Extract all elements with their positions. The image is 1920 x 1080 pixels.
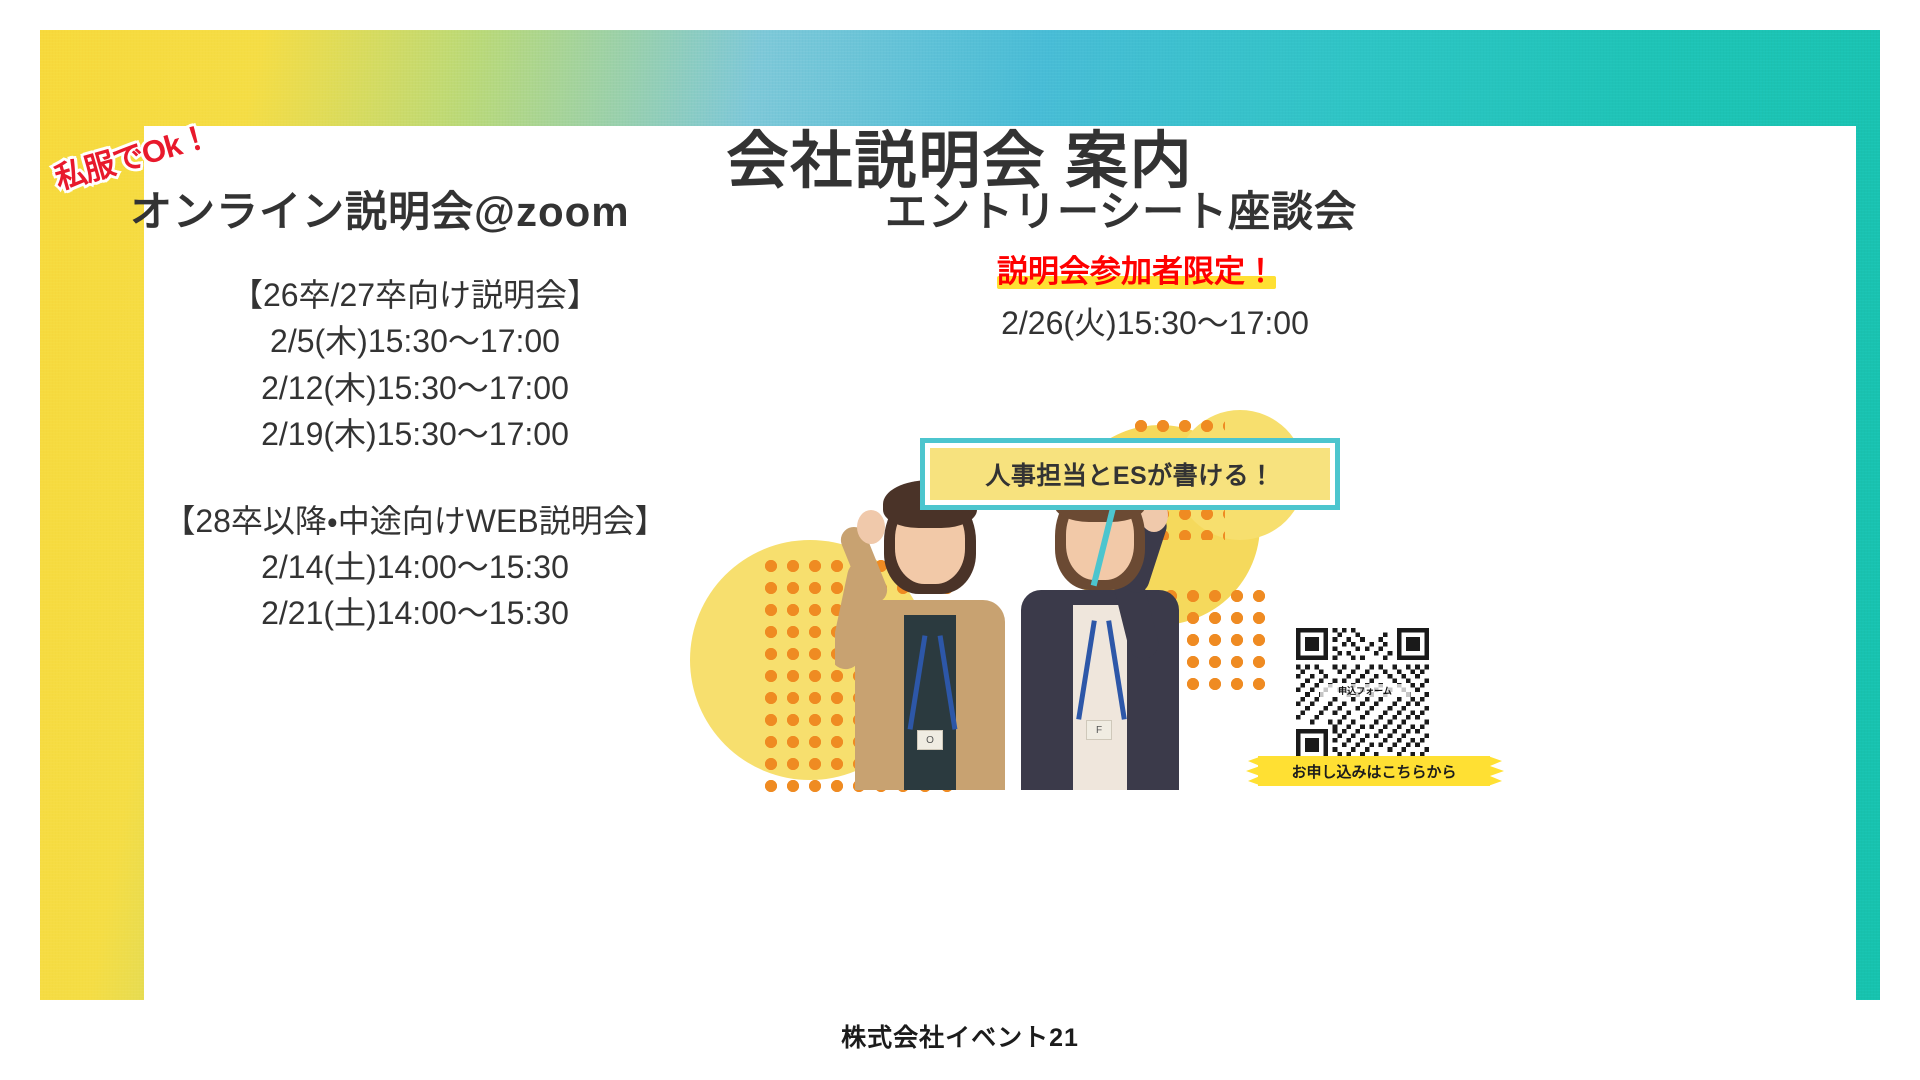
poster-root: 会社説明会 案内 私服でOk！ オンライン説明会@zoom エントリーシート座談… [0, 0, 1920, 1080]
right-schedule-session: 2/26(火)15:30〜17:00 [930, 298, 1380, 344]
id-badge: O [917, 730, 943, 750]
right-column-heading: エントリーシート座談会 [885, 178, 1357, 239]
apply-here-banner[interactable]: お申し込みはこちらから [1258, 756, 1490, 786]
schedule-spacer [125, 458, 705, 498]
staff-photo: O F [835, 465, 1230, 790]
left-column-heading: オンライン説明会@zoom [130, 178, 630, 239]
banner-zigzag-right [1488, 756, 1510, 786]
person-right: F [1000, 470, 1200, 790]
schedule-session: 2/19(木)15:30〜17:00 [125, 411, 705, 457]
speech-bubble: 人事担当とESが書ける！ [920, 438, 1340, 510]
apply-here-label: お申し込みはこちらから [1291, 761, 1456, 782]
schedule-session: 2/21(土)14:00〜15:30 [125, 590, 705, 636]
participants-only-badge: 説明会参加者限定！ [997, 246, 1276, 291]
schedule-session: 2/14(土)14:00〜15:30 [125, 544, 705, 590]
speech-bubble-text: 人事担当とESが書ける！ [985, 456, 1274, 492]
schedule-group-label: 【28卒以降・中途向けWEB説明会】 [125, 498, 705, 544]
schedule-group-label: 【26卒/27卒向け説明会】 [125, 272, 705, 318]
qr-inner-label: 申込フォーム [1320, 684, 1410, 697]
schedule-session: 2/5(木)15:30〜17:00 [125, 318, 705, 364]
id-badge: F [1086, 720, 1112, 740]
schedule-session: 2/12(木)15:30〜17:00 [125, 365, 705, 411]
footer-company-name: 株式会社イベント21 [0, 1018, 1920, 1054]
left-schedule-list: 【26卒/27卒向け説明会】 2/5(木)15:30〜17:00 2/12(木)… [125, 272, 705, 637]
badge-text: 説明会参加者限定！ [997, 246, 1276, 291]
person-left: O [835, 485, 1025, 790]
speech-bubble-fill: 人事担当とESが書ける！ [930, 448, 1330, 500]
